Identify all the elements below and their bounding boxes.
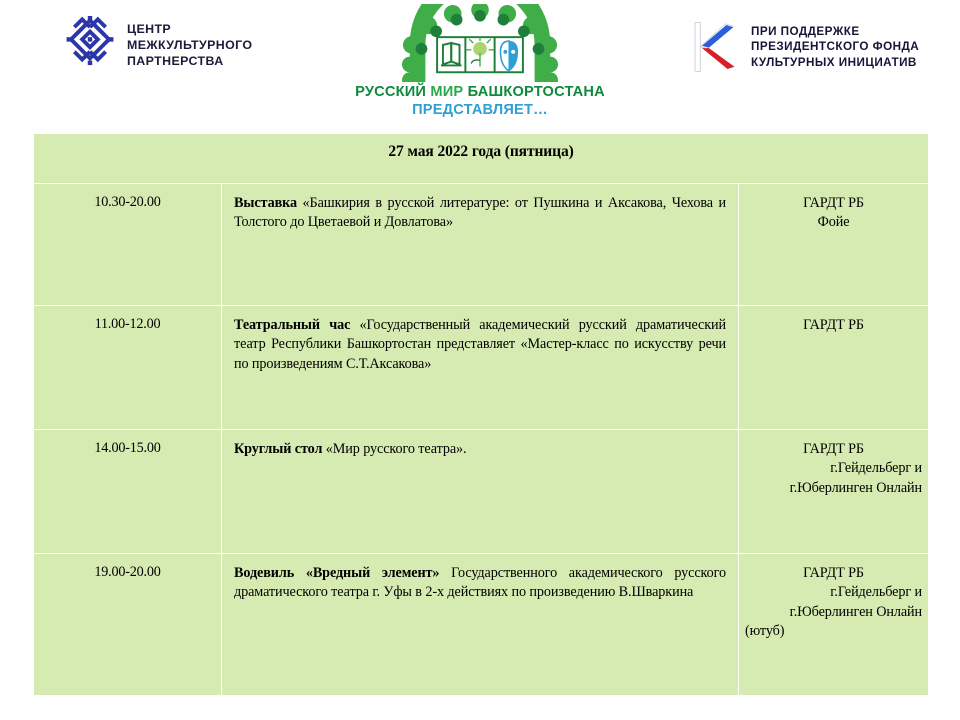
cell-event-desc: «Башкирия в русской литературе: от Пушки… (234, 195, 726, 230)
logo-right-text: ПРИ ПОДДЕРЖКЕ ПРЕЗИДЕНТСКОГО ФОНДА КУЛЬТ… (751, 24, 919, 71)
cell-event-desc: «Мир русского театра». (326, 441, 467, 457)
cell-event: Водевиль «Вредный элемент» Государственн… (222, 554, 739, 696)
cell-event-title: Водевиль «Вредный элемент» (234, 565, 451, 581)
cell-event-title: Театральный час (234, 317, 360, 333)
cell-event: Театральный час «Государственный академи… (222, 306, 739, 430)
cell-place: ГАРДТ РБ г.Гейдельберг и г.Юберлинген Он… (739, 554, 929, 696)
place-line: г.Юберлинген Онлайн (745, 479, 922, 498)
cell-place: ГАРДТ РБ г.Гейдельберг и г.Юберлинген Он… (739, 430, 929, 554)
place-line: (ютуб) (745, 622, 922, 641)
table-row: 10.30-20.00 Выставка «Башкирия в русской… (34, 184, 929, 306)
bashkir-ornament-icon (62, 16, 118, 74)
place-line: г.Гейдельберг и (745, 459, 922, 478)
cell-place: ГАРДТ РБ (739, 306, 929, 430)
cell-time: 10.30-20.00 (34, 184, 222, 306)
place-line: ГАРДТ РБ (745, 564, 922, 583)
place-line: г.Юберлинген Онлайн (745, 603, 922, 622)
logo-center-title: РУССКИЙ МИР БАШКОРТОСТАНА (330, 83, 630, 101)
table-row: 19.00-20.00 Водевиль «Вредный элемент» Г… (34, 554, 929, 696)
cell-time: 19.00-20.00 (34, 554, 222, 696)
place-line: Фойе (745, 213, 922, 232)
slide-page: ЦЕНТР МЕЖКУЛЬТУРНОГО ПАРТНЕРСТВА (0, 0, 960, 720)
logo-right-line-1: ПРИ ПОДДЕРЖКЕ (751, 24, 919, 40)
cell-time: 11.00-12.00 (34, 306, 222, 430)
logo-presidential-fund-support: ПРИ ПОДДЕРЖКЕ ПРЕЗИДЕНТСКОГО ФОНДА КУЛЬТ… (686, 18, 919, 76)
date-heading: 27 мая 2022 года (пятница) (34, 134, 929, 184)
cell-time: 14.00-15.00 (34, 430, 222, 554)
cell-place: ГАРДТ РБ Фойе (739, 184, 929, 306)
logo-russian-world-bashkortostan: РУССКИЙ МИР БАШКОРТОСТАНА ПРЕДСТАВЛЯЕТ… (330, 4, 630, 120)
logo-left-line-3: ПАРТНЕРСТВА (127, 53, 252, 69)
table-date-header-row: 27 мая 2022 года (пятница) (34, 134, 929, 184)
tricolor-k-ribbon-icon (686, 18, 740, 76)
place-line: ГАРДТ РБ (745, 194, 922, 213)
logo-center-subtitle: ПРЕДСТАВЛЯЕТ… (330, 101, 630, 120)
table-row: 14.00-15.00 Круглый стол «Мир русского т… (34, 430, 929, 554)
schedule-table: 27 мая 2022 года (пятница) 10.30-20.00 В… (33, 133, 929, 696)
cell-event-title: Круглый стол (234, 441, 326, 457)
cell-event: Круглый стол «Мир русского театра». (222, 430, 739, 554)
place-line: ГАРДТ РБ (745, 440, 922, 459)
logo-center-title-mid: МИР (430, 84, 463, 100)
cell-event: Выставка «Башкирия в русской литературе:… (222, 184, 739, 306)
logo-center-intercultural-partnership: ЦЕНТР МЕЖКУЛЬТУРНОГО ПАРТНЕРСТВА (62, 16, 252, 74)
logo-right-line-3: КУЛЬТУРНЫХ ИНИЦИАТИВ (751, 55, 919, 71)
place-line: г.Гейдельберг и (745, 583, 922, 602)
logo-left-line-1: ЦЕНТР (127, 21, 252, 37)
table-row: 11.00-12.00 Театральный час «Государстве… (34, 306, 929, 430)
logo-left-text: ЦЕНТР МЕЖКУЛЬТУРНОГО ПАРТНЕРСТВА (127, 21, 252, 70)
place-line: ГАРДТ РБ (745, 316, 922, 335)
logo-left-line-2: МЕЖКУЛЬТУРНОГО (127, 37, 252, 53)
cell-event-title: Выставка (234, 195, 303, 211)
green-arch-icon (330, 4, 630, 82)
logo-center-title-part2: БАШКОРТОСТАНА (463, 84, 604, 100)
logo-center-title-part1: РУССКИЙ (355, 84, 430, 100)
logo-bar: ЦЕНТР МЕЖКУЛЬТУРНОГО ПАРТНЕРСТВА (0, 0, 960, 122)
logo-right-line-2: ПРЕЗИДЕНТСКОГО ФОНДА (751, 39, 919, 55)
